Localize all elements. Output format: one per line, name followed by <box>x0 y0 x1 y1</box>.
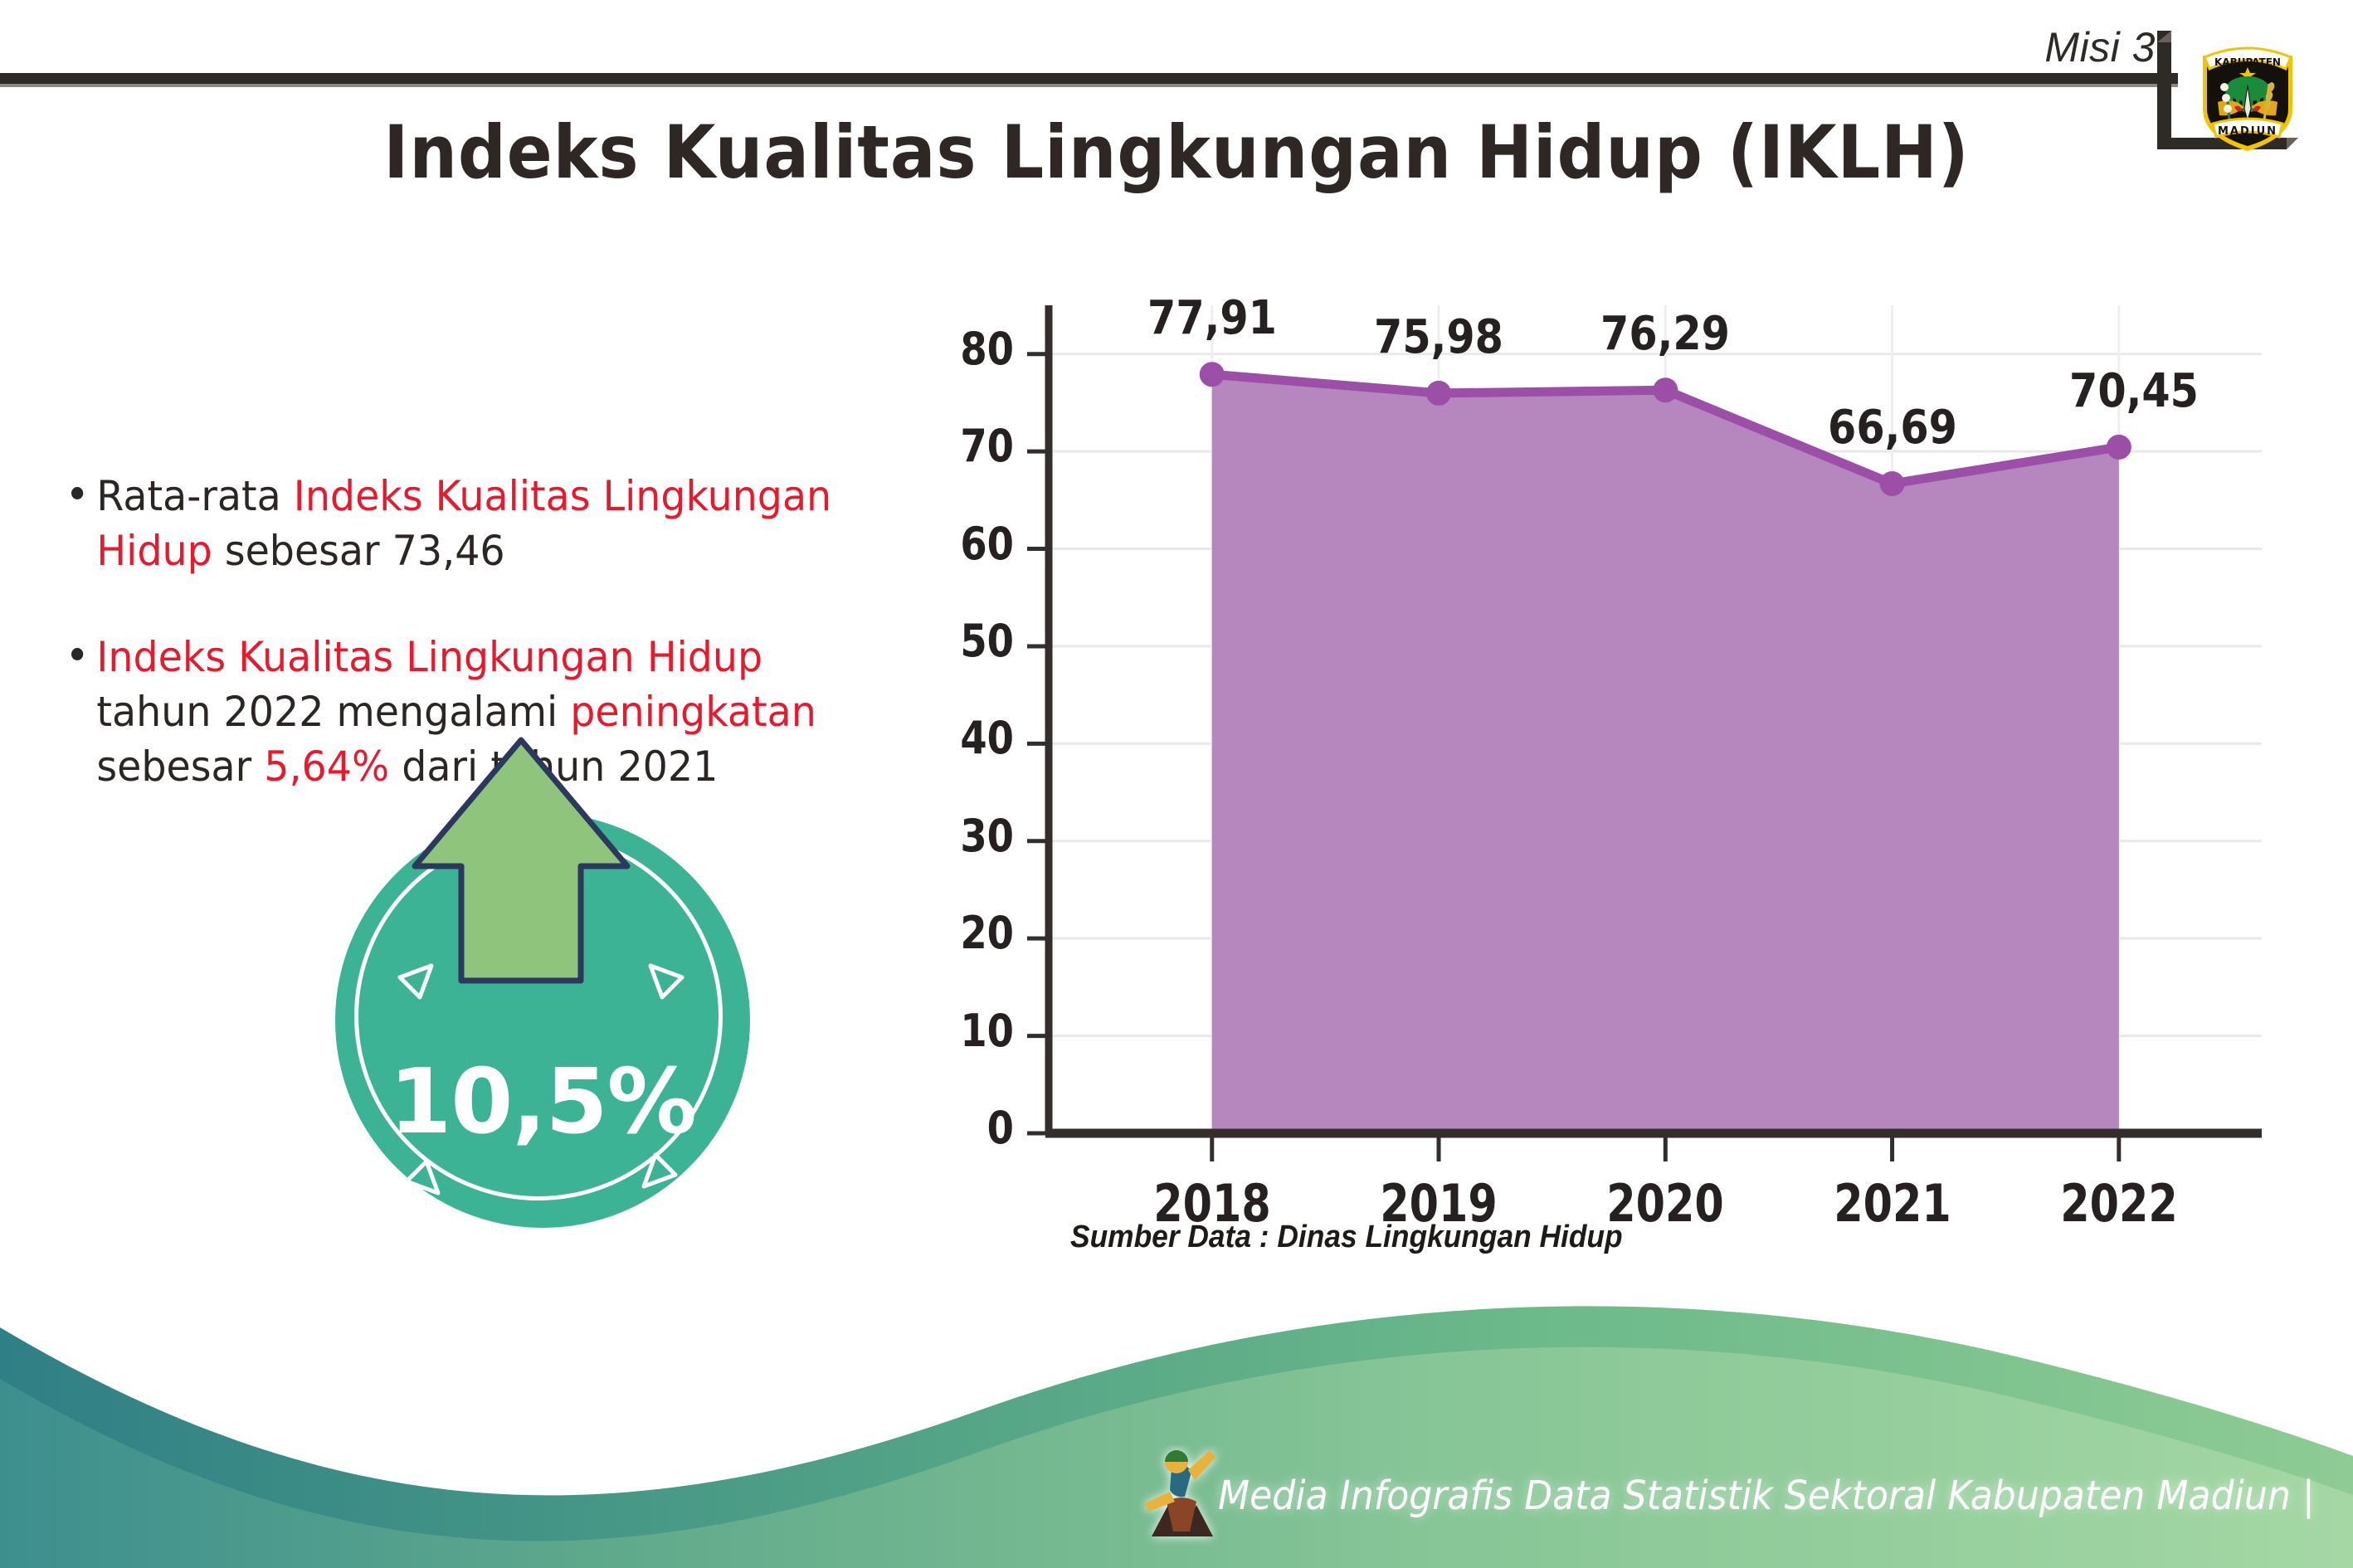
y-axis-tick-label: 10 <box>928 1005 1014 1057</box>
y-axis-tick-label: 30 <box>928 810 1014 862</box>
data-point-label: 77,91 <box>1117 291 1307 345</box>
chart-y-tick-marks <box>1027 354 1045 1133</box>
misi-label: Misi 3 <box>2044 23 2156 71</box>
data-point-marker <box>2107 435 2131 460</box>
y-axis-tick-label: 40 <box>928 712 1014 764</box>
bullet-text-average: Rata-rata Indeks Kualitas Lingkungan Hid… <box>96 472 831 575</box>
header-rule <box>0 73 2178 84</box>
chart-area-series <box>1212 374 2119 1133</box>
statistics-figure-icon <box>1138 1445 1225 1568</box>
y-axis-tick-label: 70 <box>928 420 1014 472</box>
page-title: Indeks Kualitas Lingkungan Hidup (IKLH) <box>94 110 2258 195</box>
data-point-label: 75,98 <box>1344 310 1534 364</box>
data-point-marker <box>1880 471 1905 496</box>
area-fill <box>1212 374 2119 1133</box>
chart-canvas <box>971 299 2265 1170</box>
data-point-label: 70,45 <box>2039 364 2229 418</box>
iklh-area-chart: 01020304050607080 20182019202020212022 7… <box>971 299 2265 1170</box>
plain-text: sebesar <box>96 743 264 791</box>
plain-text: Rata-rata <box>96 472 293 520</box>
y-axis-tick-label: 50 <box>928 615 1014 667</box>
data-point-marker <box>1653 377 1678 402</box>
plain-text: sebesar 73,46 <box>212 527 505 575</box>
x-axis-tick-label: 2022 <box>2030 1173 2207 1234</box>
data-point-marker <box>1426 381 1451 406</box>
chart-source-note: Sumber Data : Dinas Lingkungan Hidup <box>1070 1220 1623 1255</box>
y-axis-tick-label: 0 <box>928 1102 1014 1154</box>
up-arrow-icon <box>405 733 637 1007</box>
badge-triangle-marker-topright <box>644 959 687 1002</box>
y-axis-tick-label: 20 <box>928 907 1014 959</box>
bullet-dot-icon <box>71 487 83 499</box>
infographic-slide: Misi 3 KABUPATEN <box>0 0 2353 1568</box>
highlighted-text: 5,64% <box>264 743 389 791</box>
x-axis-tick-label: 2021 <box>1804 1173 1980 1234</box>
data-point-label: 76,29 <box>1571 307 1761 361</box>
y-axis-tick-label: 60 <box>928 518 1014 570</box>
chart-x-tick-marks <box>1212 1137 2119 1161</box>
highlighted-text: Indeks Kualitas Lingkungan Hidup <box>96 633 762 681</box>
highlighted-text: peningkatan <box>570 688 816 736</box>
increase-badge: 10,5% <box>335 813 750 1228</box>
badge-value: 10,5% <box>335 1050 750 1154</box>
bullet-dot-icon <box>71 648 83 660</box>
y-axis-tick-label: 80 <box>928 323 1014 375</box>
plain-text: tahun 2022 mengalami <box>96 688 570 736</box>
data-point-marker <box>1200 362 1225 387</box>
data-point-label: 66,69 <box>1797 401 1987 455</box>
crest-top-label: KABUPATEN <box>2214 56 2281 68</box>
badge-triangle-marker-bottomright <box>637 1150 680 1193</box>
bracket-vertical-bevel <box>2157 31 2171 42</box>
bullet-item-average: Rata-rata Indeks Kualitas Lingkungan Hid… <box>71 469 875 578</box>
badge-triangle-marker-bottomleft <box>402 1157 445 1200</box>
footer-caption: Media Infografis Data Statistik Sektoral… <box>1218 1473 2315 1519</box>
